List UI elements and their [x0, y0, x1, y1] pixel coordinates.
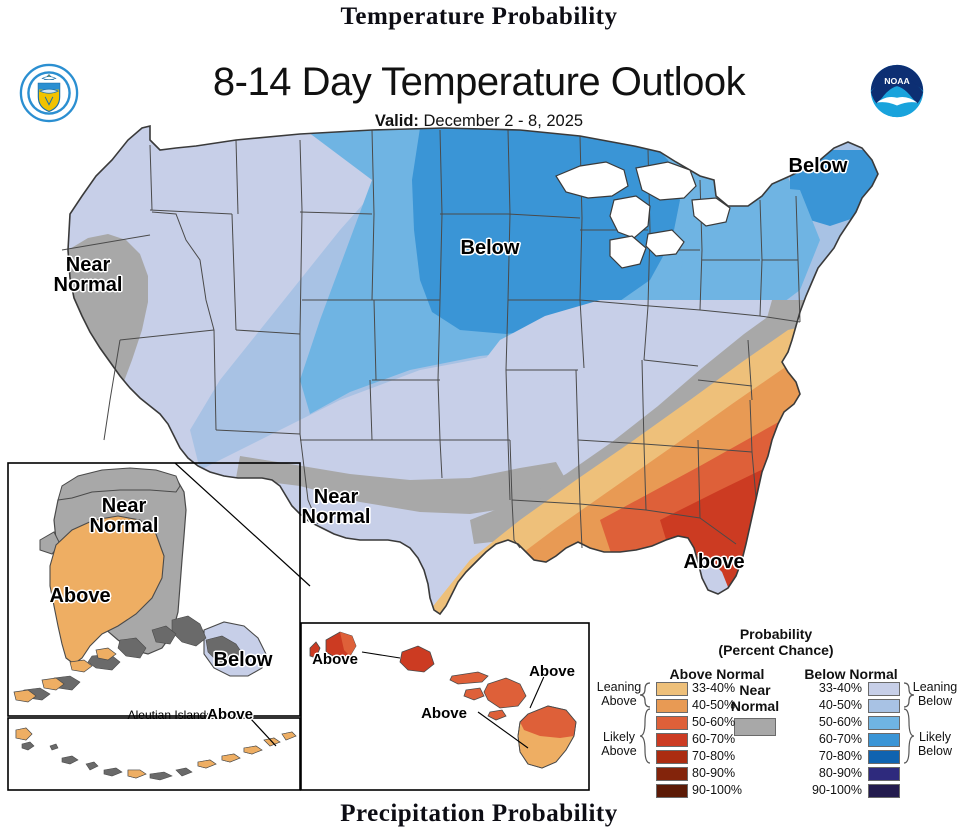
map-label-near-normal-west: Near Normal [48, 255, 128, 295]
legend-swatch-below-1 [868, 682, 900, 696]
legend-brace-leaning-below: Leaning Below [912, 680, 958, 708]
legend-swatch-above-1 [656, 682, 688, 696]
legend-brace-leaning-above: Leaning Above [596, 680, 642, 708]
hawaii-label-above-bigisland: Above [414, 704, 474, 724]
map-label-below-maine: Below [778, 156, 858, 176]
legend-range-below-5: 70-80% [790, 750, 862, 763]
aleutian-inset-frame [8, 718, 300, 790]
legend-range-above-1: 33-40% [692, 682, 762, 695]
legend-swatch-below-2 [868, 699, 900, 713]
legend-swatch-below-6 [868, 767, 900, 781]
legend-swatch-above-7 [656, 784, 688, 798]
legend-range-below-4: 60-70% [790, 733, 862, 746]
legend-range-above-4: 60-70% [692, 733, 762, 746]
aleutian-label-above: Above [200, 705, 260, 725]
page-title-precipitation: Precipitation Probability [0, 800, 958, 828]
aleutian-map [16, 728, 296, 780]
legend-range-below-2: 40-50% [790, 699, 862, 712]
legend-brace-likely-above: Likely Above [596, 730, 642, 758]
map-label-above-florida: Above [674, 552, 754, 572]
legend-range-below-6: 80-90% [790, 767, 862, 780]
legend-title: Probability (Percent Chance) [598, 626, 954, 658]
legend-swatch-below-4 [868, 733, 900, 747]
legend-swatch-above-4 [656, 733, 688, 747]
legend-title-line1: Probability [740, 626, 812, 642]
legend-swatch-above-5 [656, 750, 688, 764]
legend-range-above-6: 80-90% [692, 767, 762, 780]
legend-heading-below: Below Normal [792, 666, 910, 682]
legend: Probability (Percent Chance) Above Norma… [598, 626, 954, 798]
alaska-label-near-normal: Near Normal [84, 496, 164, 536]
legend-range-above-2: 40-50% [692, 699, 762, 712]
legend-swatch-below-3 [868, 716, 900, 730]
map-label-below-midwest: Below [450, 238, 530, 258]
legend-title-line2: (Percent Chance) [718, 642, 833, 658]
legend-range-below-7: 90-100% [790, 784, 862, 797]
legend-range-above-5: 70-80% [692, 750, 762, 763]
legend-range-above-7: 90-100% [692, 784, 762, 797]
legend-heading-above: Above Normal [658, 666, 776, 682]
legend-range-above-3: 50-60% [692, 716, 762, 729]
outlook-page: Temperature Probability 8-14 Day Tempera… [0, 0, 958, 836]
alaska-label-above: Above [40, 586, 120, 606]
legend-brace-likely-below: Likely Below [912, 730, 958, 758]
legend-range-below-3: 50-60% [790, 716, 862, 729]
legend-swatch-above-2 [656, 699, 688, 713]
legend-swatch-below-5 [868, 750, 900, 764]
alaska-label-below: Below [203, 650, 283, 670]
legend-swatch-above-6 [656, 767, 688, 781]
legend-swatch-below-7 [868, 784, 900, 798]
hawaii-label-above-maui: Above [522, 662, 582, 682]
map-label-near-normal-texas: Near Normal [296, 487, 376, 527]
legend-swatch-above-3 [656, 716, 688, 730]
legend-range-below-1: 33-40% [790, 682, 862, 695]
hawaii-label-above-kauai: Above [305, 650, 365, 670]
